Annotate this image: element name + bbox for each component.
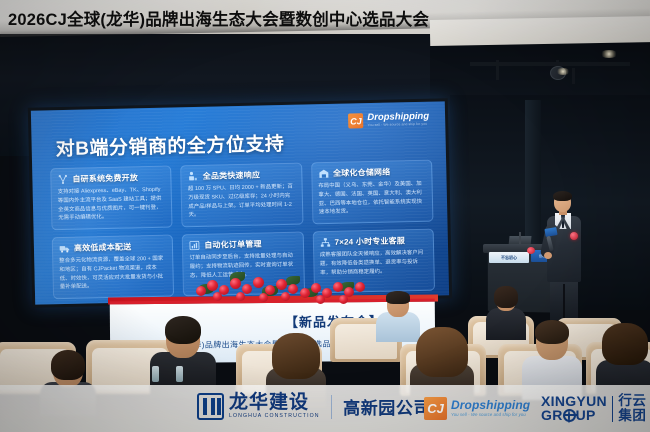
card-title: 高效低成本配送 bbox=[74, 241, 132, 253]
longhua-subsidiary: 高新园公司 bbox=[343, 394, 431, 419]
card-title: 自动化订单管理 bbox=[204, 239, 262, 251]
longhua-mark-icon bbox=[197, 393, 224, 420]
cj-brand-name: Dropshipping bbox=[451, 399, 530, 411]
globe-icon bbox=[563, 409, 576, 422]
network-share-icon bbox=[57, 174, 68, 185]
conference-photo: CJ Dropshipping You sell - We source and… bbox=[0, 0, 650, 432]
card-header: 自动化订单管理 bbox=[189, 238, 297, 251]
longhua-name-en: LONGHUA CONSTRUCTION bbox=[229, 414, 320, 419]
longhua-construction-logo: 龙华建设 LONGHUA CONSTRUCTION 高新园公司 bbox=[197, 393, 431, 420]
card-header: 全品类快速响应 bbox=[188, 169, 296, 182]
box-stack-icon bbox=[188, 171, 199, 182]
speaker-hand bbox=[544, 252, 552, 259]
chart-bar-icon bbox=[189, 240, 200, 251]
card-body: 布局中国（义乌、东莞、金华）及美国、加拿大、德国、法国、英国、意大利、澳大利亚、… bbox=[318, 180, 426, 217]
support-team-icon bbox=[319, 237, 330, 248]
card-title: 全球化仓储网络 bbox=[333, 167, 391, 179]
xingyun-group-suffix: UP bbox=[576, 409, 596, 422]
card-body: 超 100 万 SPU、日均 2000 + 新品更新；百万级现货 SKU、过亿级… bbox=[188, 183, 296, 220]
xingyun-group-logo: XINGYUN GR UP 行云 集团 bbox=[541, 394, 646, 423]
ceiling-soffit bbox=[430, 16, 650, 46]
card-header: 高效低成本配送 bbox=[59, 241, 167, 254]
cj-brand-tagline: You sell - We source and ship for you bbox=[451, 413, 530, 417]
xingyun-cn-line2: 集团 bbox=[618, 409, 646, 424]
flower-arrangement bbox=[196, 268, 304, 310]
xingyun-name-line2: GR UP bbox=[541, 409, 607, 422]
speaker-presenter bbox=[543, 192, 585, 320]
audience-member bbox=[596, 326, 650, 394]
speaker-corsage bbox=[570, 232, 578, 240]
water-bottle bbox=[176, 366, 183, 382]
podium-sign-text: 不忘初心 bbox=[501, 255, 517, 261]
page-title: 2026CJ全球(龙华)品牌出海生态大会暨数创中心选品大会 bbox=[8, 6, 429, 30]
card-header: 自研系统免费开放 bbox=[57, 172, 165, 185]
lighting-rig-bar bbox=[496, 60, 499, 80]
xingyun-name-cn: 行云 集团 bbox=[618, 394, 646, 423]
card-title: 自研系统免费开放 bbox=[72, 172, 138, 184]
cj-logo-icon: CJ bbox=[348, 113, 363, 128]
cj-logo-icon: CJ bbox=[424, 397, 447, 420]
card-title: 全品类快速响应 bbox=[203, 170, 261, 182]
xingyun-cn-line1: 行云 bbox=[618, 394, 646, 409]
card-body: 成熟客服团队全天候响应，高效解决客户问题，有效降低各类退换单、退货率与投诉率，帮… bbox=[320, 249, 428, 278]
card-header: 7×24 小时专业客服 bbox=[319, 235, 427, 248]
slide-brand-logo: CJ Dropshipping You sell - We source and… bbox=[348, 112, 429, 129]
audience-member bbox=[150, 318, 216, 392]
warehouse-icon bbox=[318, 168, 329, 179]
logo-divider bbox=[331, 395, 333, 419]
audience-member bbox=[522, 322, 582, 392]
ceiling-light bbox=[600, 50, 618, 58]
card-header: 全球化仓储网络 bbox=[318, 166, 426, 179]
speaker-leg-gap bbox=[563, 284, 565, 320]
stage-spotlight bbox=[556, 68, 570, 75]
card-title: 7×24 小时专业客服 bbox=[334, 235, 405, 248]
card-body: 支持对接 Aliexpress、eBay、TK、Shopify 等国内外主流平台… bbox=[58, 186, 166, 223]
speaker-hair bbox=[553, 191, 572, 201]
water-bottle bbox=[152, 366, 159, 382]
audience-member bbox=[486, 286, 526, 338]
xingyun-group-prefix: GR bbox=[541, 409, 563, 422]
slide-brand-tagline: You sell - We source and ship for you bbox=[367, 123, 429, 128]
flower-arrangement-right bbox=[300, 276, 370, 310]
card-body: 整合多元化物流资源，覆盖全球 200 + 国家和地区；自有 CJPacket 物… bbox=[59, 255, 167, 292]
podium-flower bbox=[527, 247, 535, 254]
slide-card: 自研系统免费开放 支持对接 Aliexpress、eBay、TK、Shopify… bbox=[50, 166, 173, 231]
lighting-rig-bar bbox=[470, 62, 630, 66]
lighting-rig-bar bbox=[572, 68, 575, 84]
footer-logo-bar: 龙华建设 LONGHUA CONSTRUCTION 高新园公司 CJ Drops… bbox=[0, 385, 650, 432]
slide-card: 高效低成本配送 整合多元化物流资源，覆盖全球 200 + 国家和地区；自有 CJ… bbox=[52, 235, 175, 300]
logo-divider bbox=[612, 396, 614, 422]
truck-icon bbox=[59, 243, 70, 254]
slide-headline: 对B端分销商的全方位支持 bbox=[55, 129, 284, 161]
podium-sign: 不忘初心 bbox=[489, 252, 529, 263]
cj-dropshipping-logo: CJ Dropshipping You sell - We source and… bbox=[424, 397, 530, 420]
slide-card: 全球化仓储网络 布局中国（义乌、东莞、金华）及美国、加拿大、德国、法国、英国、意… bbox=[311, 160, 434, 225]
slide-card: 全品类快速响应 超 100 万 SPU、日均 2000 + 新品更新；百万级现货… bbox=[180, 163, 303, 228]
longhua-name-cn: 龙华建设 bbox=[229, 393, 320, 413]
